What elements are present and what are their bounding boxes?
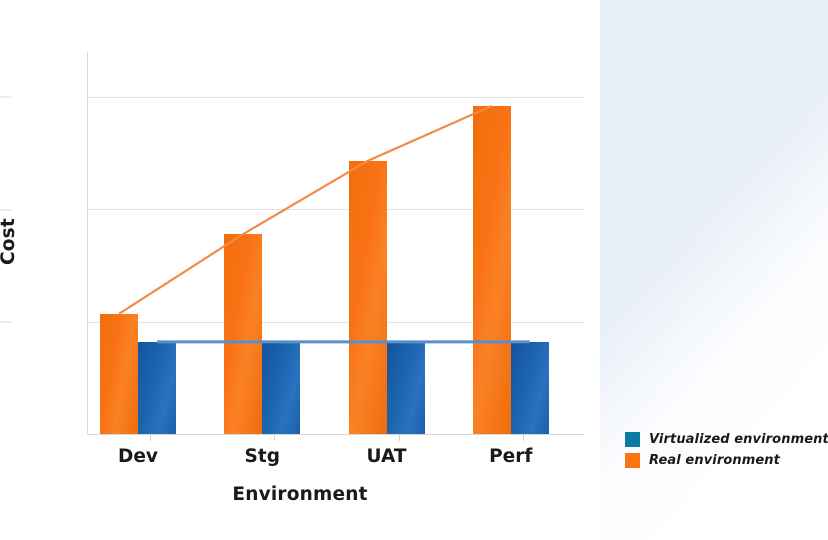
trend-lines bbox=[88, 52, 585, 434]
trend-line-real bbox=[119, 106, 492, 314]
x-tick bbox=[274, 434, 275, 441]
tick-dash bbox=[0, 322, 11, 323]
chart-legend: Virtualized environmentReal environment bbox=[625, 432, 828, 474]
legend-item-virtualized[interactable]: Virtualized environment bbox=[625, 432, 828, 447]
x-tick bbox=[399, 434, 400, 441]
x-axis-title: Environment bbox=[0, 484, 600, 505]
y-axis-title: Cost bbox=[0, 218, 19, 265]
plot-area bbox=[88, 52, 585, 434]
tick-dash bbox=[0, 97, 11, 98]
x-category-label-perf: Perf bbox=[489, 446, 532, 467]
legend-swatch-icon bbox=[625, 453, 640, 468]
legend-swatch-icon bbox=[625, 432, 640, 447]
x-axis-line bbox=[88, 434, 585, 435]
x-category-label-dev: Dev bbox=[118, 446, 158, 467]
x-category-label-stg: Stg bbox=[245, 446, 280, 467]
legend-label: Real environment bbox=[649, 453, 780, 468]
x-category-label-uat: UAT bbox=[367, 446, 407, 467]
legend-item-real[interactable]: Real environment bbox=[625, 453, 828, 468]
legend-label: Virtualized environment bbox=[649, 432, 828, 447]
x-tick bbox=[523, 434, 524, 441]
tick-dash bbox=[0, 209, 11, 210]
cost-comparison-chart: Cost $$$$$$ DevStgUATPerf Environment bbox=[0, 0, 600, 540]
x-tick bbox=[150, 434, 151, 441]
